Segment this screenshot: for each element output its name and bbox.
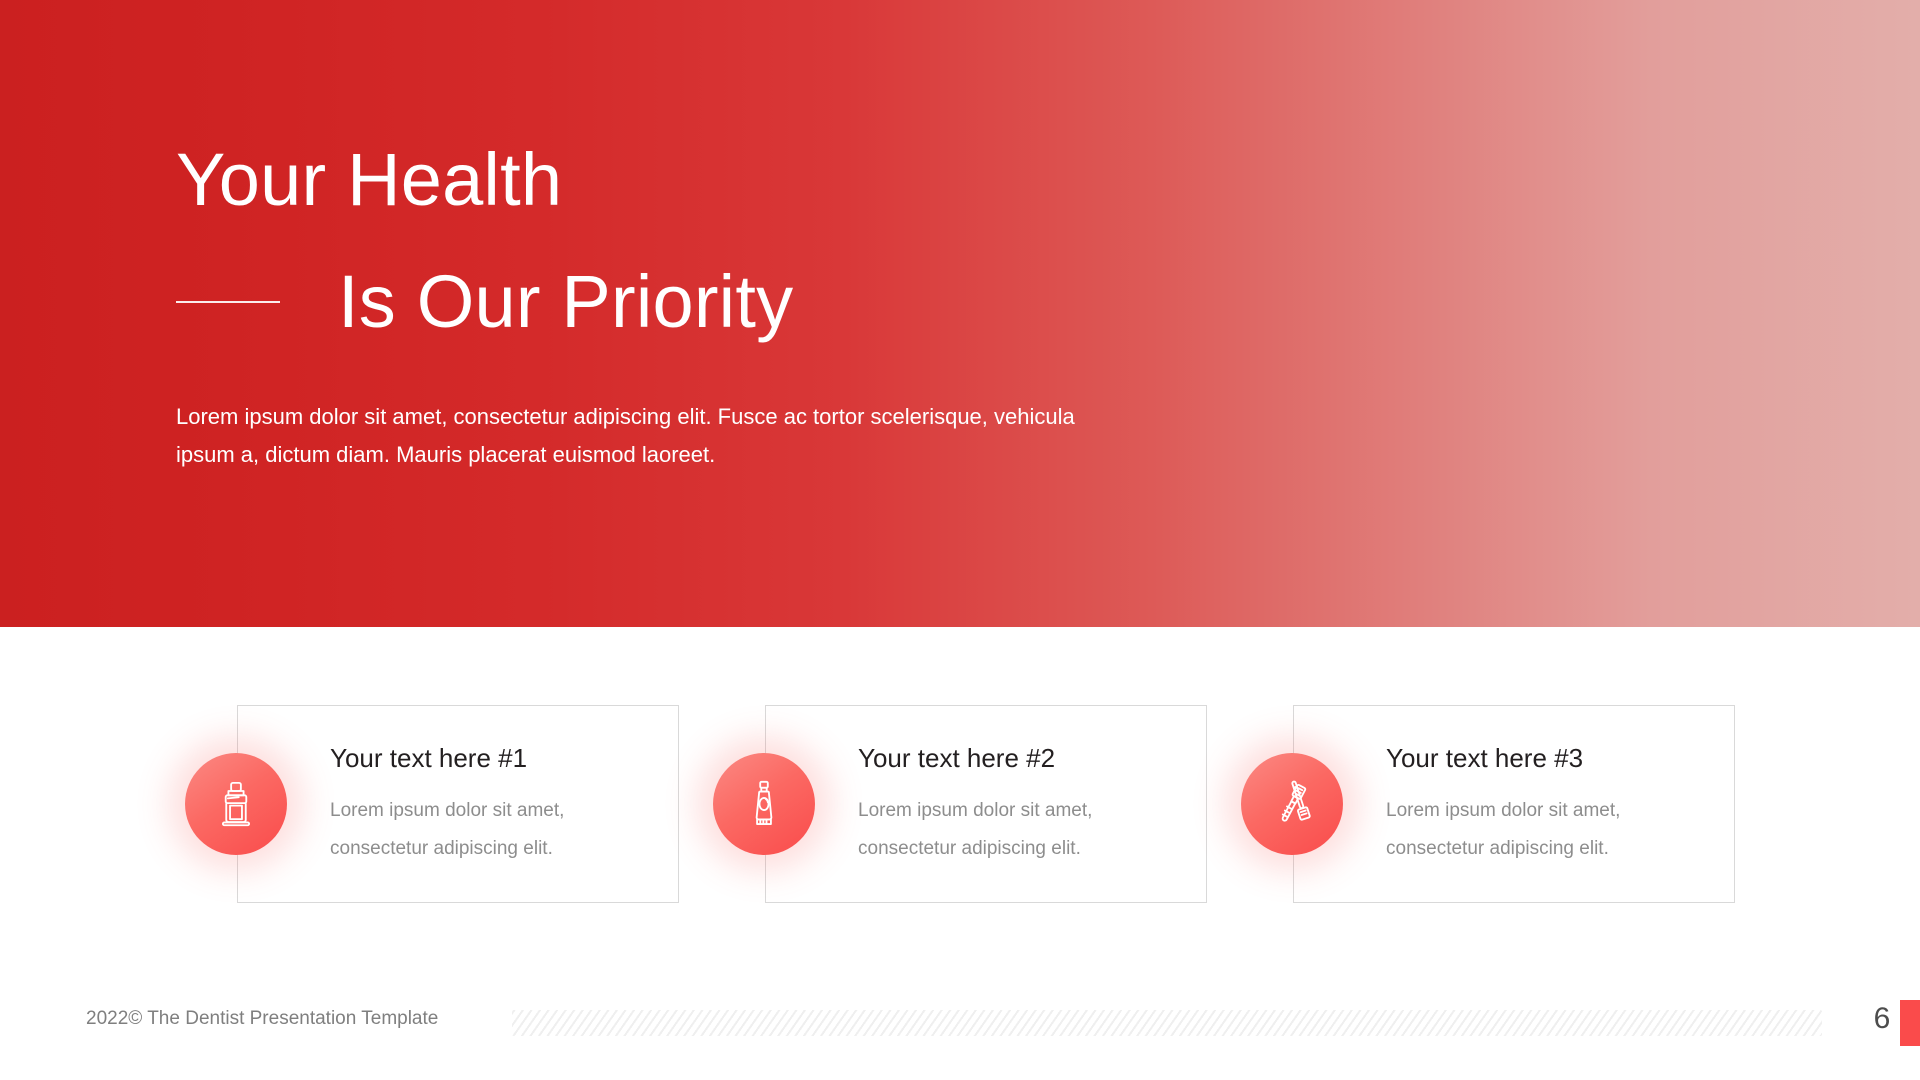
mouthwash-bottle-icon — [210, 778, 262, 830]
hero-description: Lorem ipsum dolor sit amet, consectetur … — [176, 398, 1106, 474]
footer-copyright: 2022© The Dentist Presentation Template — [86, 1008, 438, 1030]
feature-icon-badge — [185, 753, 287, 855]
feature-card[interactable]: Your text here #3 Lorem ipsum dolor sit … — [1293, 705, 1735, 903]
feature-card[interactable]: Your text here #1 Lorem ipsum dolor sit … — [237, 705, 679, 903]
presentation-slide: Your Health Is Our Priority Lorem ipsum … — [0, 0, 1920, 1080]
toothbrushes-icon — [1266, 778, 1318, 830]
feature-card-text: Lorem ipsum dolor sit amet, consectetur … — [858, 792, 1188, 868]
title-divider-rule — [176, 301, 280, 303]
feature-icon-badge — [713, 753, 815, 855]
feature-card-text: Lorem ipsum dolor sit amet, consectetur … — [1386, 792, 1716, 868]
title-row-secondary: Is Our Priority — [176, 262, 793, 342]
slide-footer: 2022© The Dentist Presentation Template … — [0, 960, 1920, 1080]
feature-card-body: Your text here #1 Lorem ipsum dolor sit … — [330, 742, 660, 868]
feature-card-title: Your text here #1 — [330, 742, 660, 774]
feature-card-list: Your text here #1 Lorem ipsum dolor sit … — [0, 705, 1920, 905]
page-number: 6 — [1862, 1002, 1902, 1036]
toothpaste-tube-icon — [738, 778, 790, 830]
page-title-line-1: Your Health — [176, 140, 562, 220]
feature-icon-badge — [1241, 753, 1343, 855]
feature-card-body: Your text here #3 Lorem ipsum dolor sit … — [1386, 742, 1716, 868]
feature-card-title: Your text here #2 — [858, 742, 1188, 774]
feature-card[interactable]: Your text here #2 Lorem ipsum dolor sit … — [765, 705, 1207, 903]
feature-card-text: Lorem ipsum dolor sit amet, consectetur … — [330, 792, 660, 868]
hero-content: Your Health Is Our Priority Lorem ipsum … — [176, 0, 1376, 627]
feature-card-body: Your text here #2 Lorem ipsum dolor sit … — [858, 742, 1188, 868]
page-title-line-2: Is Our Priority — [338, 262, 793, 342]
footer-accent-block — [1900, 1000, 1920, 1046]
footer-stripe-bar — [512, 1010, 1822, 1036]
feature-card-title: Your text here #3 — [1386, 742, 1716, 774]
hero-banner: Your Health Is Our Priority Lorem ipsum … — [0, 0, 1920, 627]
